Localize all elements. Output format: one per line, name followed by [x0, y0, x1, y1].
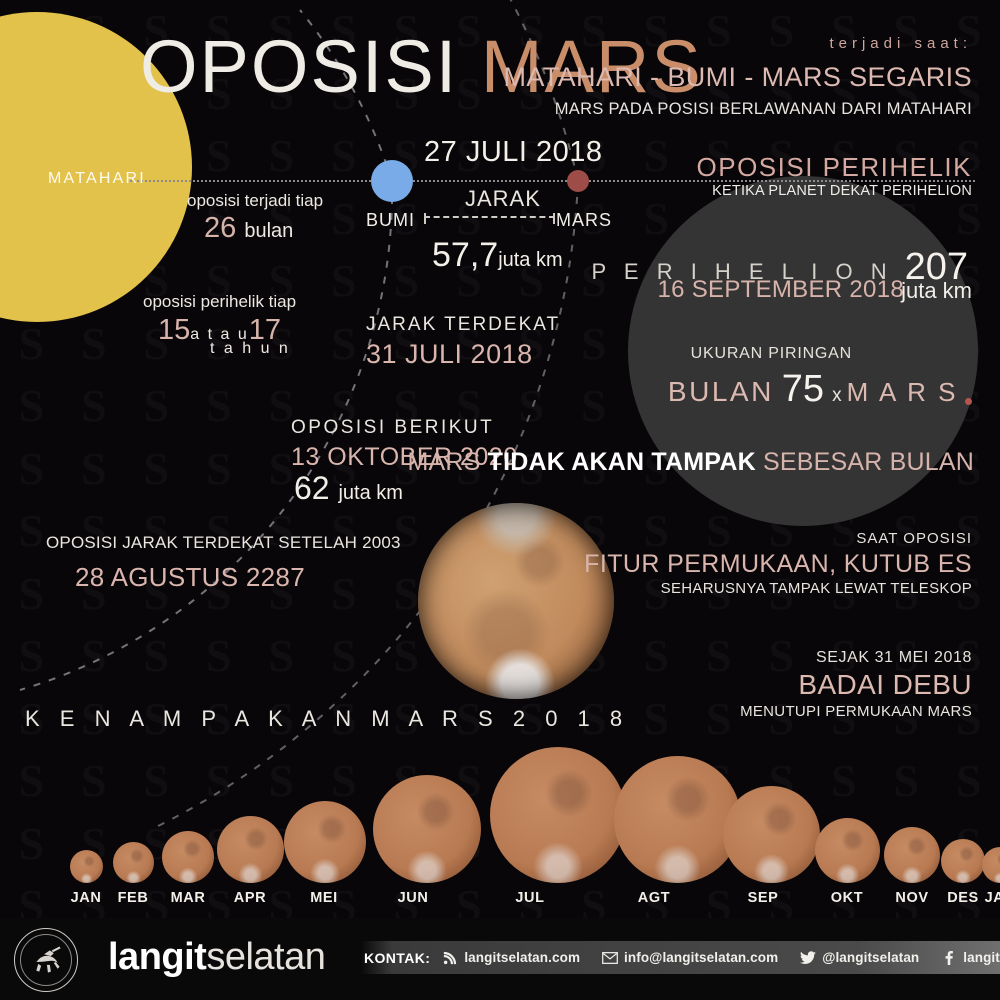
facebook-icon	[941, 951, 957, 965]
month-label: SEP	[723, 890, 803, 906]
perihelic-every-unit: t a h u n	[210, 340, 290, 358]
earth-label: BUMI	[366, 210, 415, 231]
perihelik-subtitle: KETIKA PLANET DEKAT PERIHELION	[712, 183, 972, 199]
mars-size-sequence: JANFEBMARAPRMEIJUNJULAGTSEPOKTNOVDESJAN	[0, 756, 1000, 906]
distance-value: 57,7juta km	[432, 236, 563, 275]
mail-icon	[602, 951, 618, 965]
distance-label: JARAK	[465, 186, 541, 212]
kontak-label: KONTAK:	[364, 950, 430, 966]
brand-wordmark: langitselatan	[108, 936, 325, 979]
mars-month-item: JUL	[490, 747, 570, 906]
sun-label: MATAHARI	[48, 170, 146, 188]
myth-prefix: MARS	[407, 448, 487, 476]
mars-size-dot-icon	[965, 398, 972, 405]
disk-size-mars: M A R S	[847, 377, 958, 407]
distance-measure-bar	[424, 216, 555, 218]
dust-storm-headline: BADAI DEBU	[798, 669, 972, 701]
perihelion-unit: juta km	[901, 278, 972, 304]
mars-month-item: APR	[210, 816, 290, 906]
telescope-subline: SEHARUSNYA TAMPAK LEWAT TELESKOP	[661, 580, 972, 597]
rss-icon	[442, 951, 458, 965]
disk-size-caption: UKURAN PIRINGAN	[691, 345, 852, 363]
distance-number: 57,7	[432, 236, 498, 274]
closest-caption: JARAK TERDEKAT	[366, 314, 560, 336]
opposition-date: 27 JULI 2018	[424, 136, 603, 169]
mars-disk	[982, 847, 1000, 883]
mars-disk	[723, 786, 820, 883]
mars-disk	[162, 831, 214, 883]
brand-bold-part: langit	[108, 936, 206, 978]
contact-bar: KONTAK: langitselatan.cominfo@langitsela…	[356, 941, 1000, 974]
every-opposition-number: 26	[204, 212, 236, 244]
every-opposition-value: 26 bulan	[204, 212, 293, 245]
myth-suffix: SEBESAR BULAN	[756, 448, 974, 476]
closest-date: 31 JULI 2018	[366, 339, 533, 370]
disk-size-comparison: BULAN75xM A R S	[668, 368, 972, 411]
brand-light-part: selatan	[206, 936, 325, 978]
myth-buster-line: MARS TIDAK AKAN TAMPAK SEBESAR BULAN	[407, 448, 974, 477]
month-label: JUL	[490, 890, 570, 906]
title-word-oposisi: OPOSISI	[140, 25, 458, 108]
telescope-headline: FITUR PERMUKAAN, KUTUB ES	[584, 550, 972, 579]
mars-planet-dot	[567, 170, 589, 192]
contact-text: info@langitselatan.com	[624, 950, 778, 965]
closest-since-2003-date: 28 AGUSTUS 2287	[75, 562, 305, 593]
disk-size-times: x	[832, 385, 842, 406]
every-opposition-unit: bulan	[244, 220, 293, 242]
myth-emphasis: TIDAK AKAN TAMPAK	[488, 448, 756, 476]
earth-planet-dot	[371, 160, 413, 202]
contact-item[interactable]: @langitselatan	[800, 950, 919, 965]
next-opposition-number: 62	[294, 470, 330, 506]
mars-month-item: AGT	[614, 756, 694, 906]
perihelion-date: 16 SEPTEMBER 2018	[657, 276, 904, 304]
infographic-poster: SSSSSSSSSSSSSSSSSSSSSSSSSSSSSSSSSSSSSSSS…	[0, 0, 1000, 1000]
mars-month-item: MEI	[284, 801, 364, 906]
twitter-icon	[800, 951, 816, 965]
month-label: JUN	[373, 890, 453, 906]
dust-storm-subline: MENUTUPI PERMUKAAN MARS	[740, 703, 972, 720]
mars-disk	[815, 818, 880, 883]
next-opposition-caption: OPOSISI BERIKUT	[291, 417, 494, 439]
mars-label: MARS	[556, 210, 612, 231]
distance-unit: juta km	[498, 249, 562, 271]
every-opposition-caption: oposisi terjadi tiap	[187, 191, 323, 211]
contact-text: @langitselatan	[822, 950, 919, 965]
telescope-kicker: SAAT OPOSISI	[856, 530, 972, 547]
disk-size-factor: 75	[782, 368, 824, 410]
alignment-subline: MARS PADA POSISI BERLAWANAN DARI MATAHAR…	[555, 100, 972, 119]
month-label: AGT	[614, 890, 694, 906]
contact-item[interactable]: langitselatan.com	[442, 950, 580, 965]
disk-size-moon: BULAN	[668, 376, 774, 407]
perihelic-every-caption: oposisi perihelik tiap	[143, 292, 296, 312]
langitselatan-seal-logo	[14, 928, 78, 992]
next-opposition-unit: juta km	[338, 482, 402, 504]
mars-disk	[490, 747, 626, 883]
alignment-kicker: terjadi saat:	[829, 35, 972, 52]
dust-storm-kicker: SEJAK 31 MEI 2018	[816, 649, 972, 667]
alignment-headline: MATAHARI - BUMI - MARS SEGARIS	[503, 62, 972, 93]
contact-text: langitselatan	[963, 950, 1000, 965]
mars-month-item: JAN	[960, 847, 1000, 906]
next-opposition-distance: 62 juta km	[294, 470, 403, 507]
month-label: MEI	[284, 890, 364, 906]
closest-since-2003-caption: OPOSISI JARAK TERDEKAT SETELAH 2003	[46, 533, 401, 553]
mars-disk	[373, 775, 481, 883]
month-label: JAN	[960, 890, 1000, 906]
mars-disk	[284, 801, 366, 883]
seal-horse-rider-icon	[15, 929, 77, 991]
perihelik-title: OPOSISI PERIHELIK	[697, 152, 972, 183]
mars-month-item: JUN	[373, 775, 453, 906]
contact-text: langitselatan.com	[464, 950, 580, 965]
mars-photo	[418, 503, 614, 699]
appearance-strip-title: K E N A M P A K A N M A R S 2 0 1 8	[25, 706, 629, 732]
month-label: APR	[210, 890, 290, 906]
footer-bar: langitselatan KONTAK: langitselatan.comi…	[0, 918, 1000, 1000]
mars-month-item: SEP	[723, 786, 803, 906]
contact-item[interactable]: langitselatan	[941, 950, 1000, 965]
mars-disk	[217, 816, 284, 883]
mars-disk	[614, 756, 741, 883]
contact-item[interactable]: info@langitselatan.com	[602, 950, 778, 965]
perihelic-value-1: 15	[158, 314, 190, 346]
